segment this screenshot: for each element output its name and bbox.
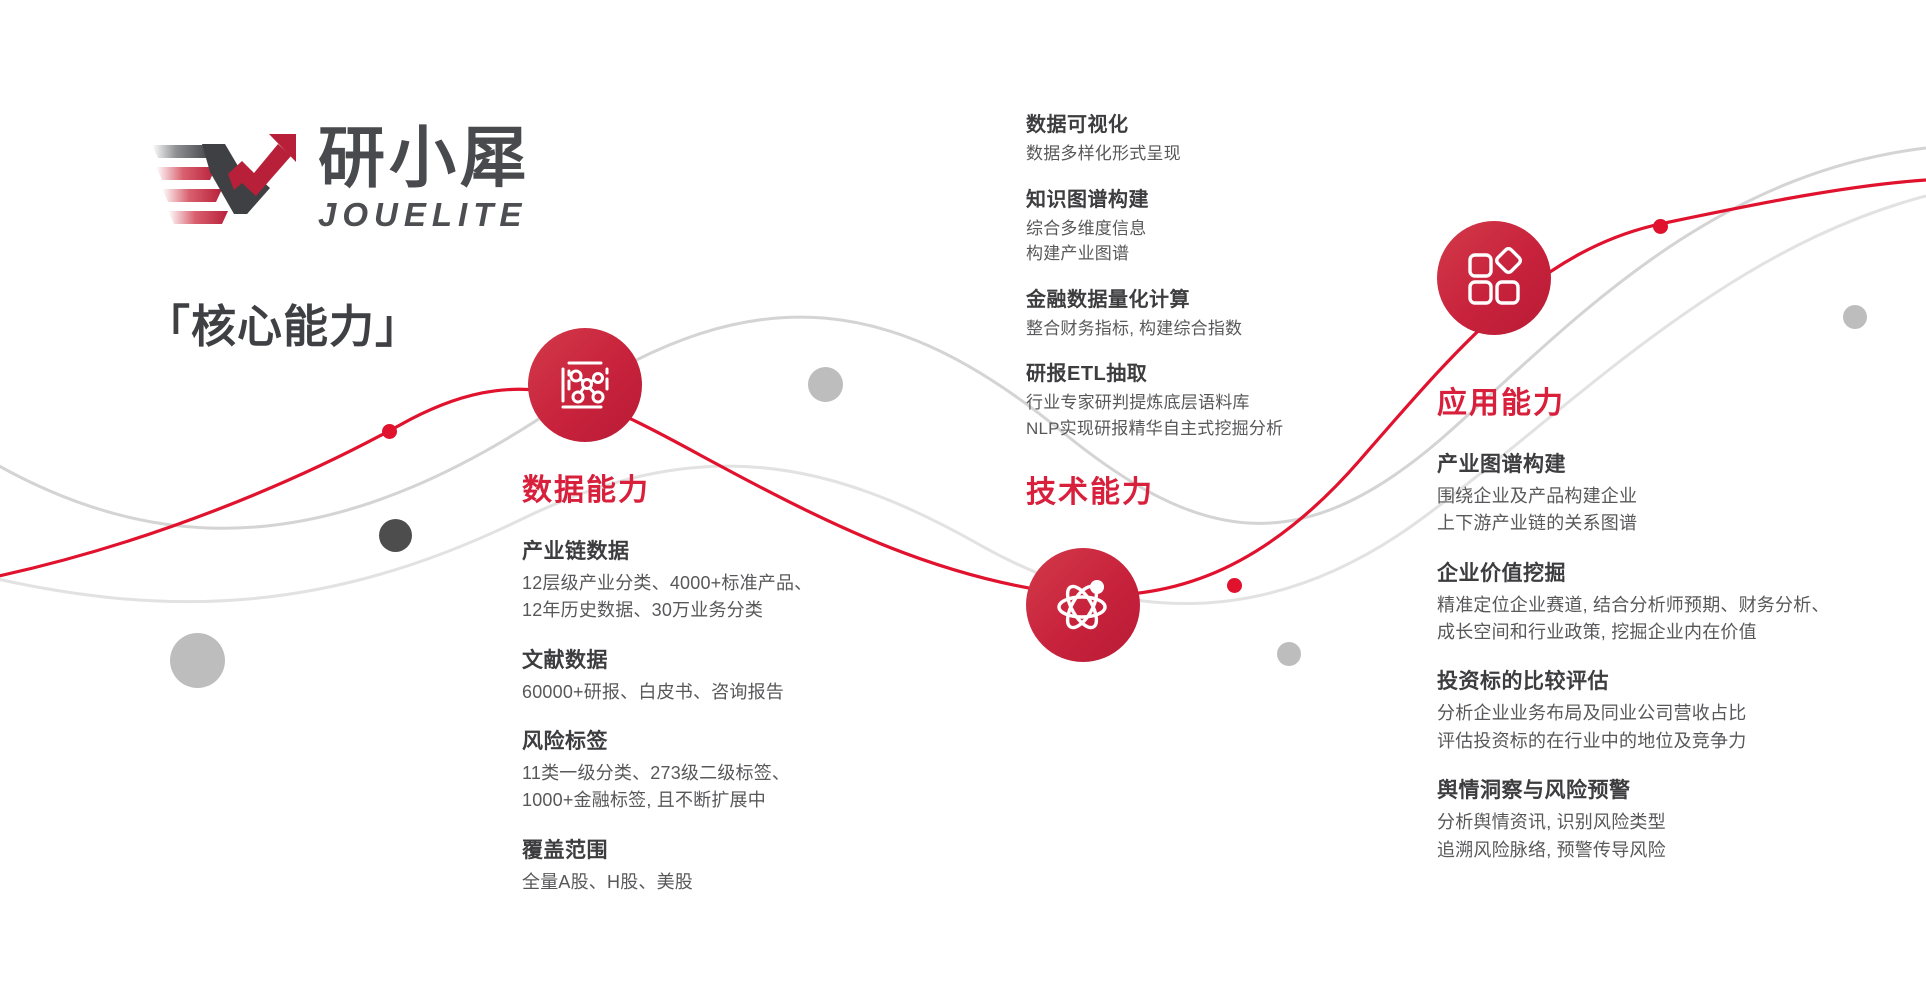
app-grid-icon — [1463, 247, 1525, 309]
capability-item: 研报ETL抽取 行业专家研判提炼底层语料库 NLP实现研报精华自主式挖掘分析 — [1026, 357, 1283, 441]
marker-red-mid — [1227, 578, 1242, 593]
dot-light-mid — [808, 367, 843, 402]
item-title: 文献数据 — [522, 644, 812, 674]
item-title: 企业价值挖掘 — [1437, 557, 1830, 587]
item-title: 知识图谱构建 — [1026, 183, 1283, 212]
item-line: 行业专家研判提炼底层语料库 — [1026, 390, 1283, 416]
logo-latin-name: JOUELITE — [318, 196, 618, 234]
node-circle-application[interactable] — [1437, 221, 1551, 335]
capability-item: 产业链数据 12层级产业分类、4000+标准产品、 12年历史数据、30万业务分… — [522, 535, 812, 625]
node-circle-tech[interactable] — [1026, 548, 1140, 662]
section-data: 数据能力 产业链数据 12层级产业分类、4000+标准产品、 12年历史数据、3… — [522, 465, 812, 896]
capability-item: 舆情洞察与风险预警 分析舆情资讯, 识别风险类型 追溯风险脉络, 预警传导风险 — [1437, 774, 1830, 864]
capability-item: 文献数据 60000+研报、白皮书、咨询报告 — [522, 644, 812, 706]
dot-light-left — [170, 633, 225, 688]
section-tech: 数据可视化 数据多样化形式呈现 知识图谱构建 综合多维度信息 构建产业图谱 金融… — [1026, 108, 1283, 511]
item-line: 整合财务指标, 构建综合指数 — [1026, 316, 1283, 342]
capability-item: 产业图谱构建 围绕企业及产品构建企业 上下游产业链的关系图谱 — [1437, 448, 1830, 538]
dot-light-right — [1277, 642, 1301, 666]
item-line: 分析企业业务布局及同业公司营收占比 — [1437, 700, 1830, 727]
item-line: 60000+研报、白皮书、咨询报告 — [522, 679, 812, 706]
item-title: 数据可视化 — [1026, 108, 1283, 137]
brand-logo: 研小犀 JOUELITE — [150, 128, 610, 238]
item-title: 金融数据量化计算 — [1026, 283, 1283, 312]
item-title: 产业图谱构建 — [1437, 448, 1830, 478]
item-title: 舆情洞察与风险预警 — [1437, 774, 1830, 804]
section-heading-application: 应用能力 — [1437, 378, 1830, 422]
node-circle-data[interactable] — [528, 328, 642, 442]
capability-item: 投资标的比较评估 分析企业业务布局及同业公司营收占比 评估投资标的在行业中的地位… — [1437, 665, 1830, 755]
item-title: 投资标的比较评估 — [1437, 665, 1830, 695]
item-line: 分析舆情资讯, 识别风险类型 — [1437, 809, 1830, 836]
section-items-data: 产业链数据 12层级产业分类、4000+标准产品、 12年历史数据、30万业务分… — [522, 535, 812, 896]
logo-chinese-name: 研小犀 — [318, 124, 618, 194]
item-title: 产业链数据 — [522, 535, 812, 565]
item-line: 精准定位企业赛道, 结合分析师预期、财务分析、 — [1437, 592, 1830, 619]
section-items-application: 产业图谱构建 围绕企业及产品构建企业 上下游产业链的关系图谱 企业价值挖掘 精准… — [1437, 448, 1830, 864]
capability-item: 金融数据量化计算 整合财务指标, 构建综合指数 — [1026, 283, 1283, 342]
item-line: 追溯风险脉络, 预警传导风险 — [1437, 837, 1830, 864]
item-line: 成长空间和行业政策, 挖掘企业内在价值 — [1437, 619, 1830, 646]
item-line: 1000+金融标签, 且不断扩展中 — [522, 787, 812, 814]
item-line: 11类一级分类、273级二级标签、 — [522, 760, 812, 787]
capability-item: 数据可视化 数据多样化形式呈现 — [1026, 108, 1283, 167]
item-line: 综合多维度信息 — [1026, 216, 1283, 242]
marker-red-left — [382, 424, 397, 439]
item-line: 围绕企业及产品构建企业 — [1437, 483, 1830, 510]
network-graph-icon — [555, 355, 615, 415]
item-title: 风险标签 — [522, 725, 812, 755]
section-items-tech: 数据可视化 数据多样化形式呈现 知识图谱构建 综合多维度信息 构建产业图谱 金融… — [1026, 108, 1283, 441]
capability-item: 知识图谱构建 综合多维度信息 构建产业图谱 — [1026, 183, 1283, 267]
section-application: 应用能力 产业图谱构建 围绕企业及产品构建企业 上下游产业链的关系图谱 企业价值… — [1437, 378, 1830, 864]
dot-light-far — [1843, 305, 1867, 329]
item-line: 全量A股、H股、美股 — [522, 869, 812, 896]
item-line: 构建产业图谱 — [1026, 241, 1283, 267]
item-line: 评估投资标的在行业中的地位及竞争力 — [1437, 728, 1830, 755]
section-heading-tech: 技术能力 — [1026, 467, 1283, 511]
rhino-arrow-chart-logo-icon — [150, 128, 300, 236]
logo-wordmark: 研小犀 JOUELITE — [318, 124, 618, 234]
infographic-canvas: 研小犀 JOUELITE 「核心能力」 — [0, 0, 1926, 981]
item-line: 12层级产业分类、4000+标准产品、 — [522, 570, 812, 597]
section-heading-data: 数据能力 — [522, 465, 812, 509]
page-title: 「核心能力」 — [145, 290, 421, 355]
item-line: 12年历史数据、30万业务分类 — [522, 597, 812, 624]
item-title: 研报ETL抽取 — [1026, 357, 1283, 386]
item-line: 数据多样化形式呈现 — [1026, 141, 1283, 167]
item-title: 覆盖范围 — [522, 834, 812, 864]
dot-dark-left — [379, 519, 412, 552]
capability-item: 企业价值挖掘 精准定位企业赛道, 结合分析师预期、财务分析、 成长空间和行业政策… — [1437, 557, 1830, 647]
capability-item: 风险标签 11类一级分类、273级二级标签、 1000+金融标签, 且不断扩展中 — [522, 725, 812, 815]
atom-icon — [1052, 574, 1114, 636]
item-line: NLP实现研报精华自主式挖掘分析 — [1026, 416, 1283, 442]
capability-item: 覆盖范围 全量A股、H股、美股 — [522, 834, 812, 896]
marker-red-right — [1653, 219, 1668, 234]
item-line: 上下游产业链的关系图谱 — [1437, 510, 1830, 537]
